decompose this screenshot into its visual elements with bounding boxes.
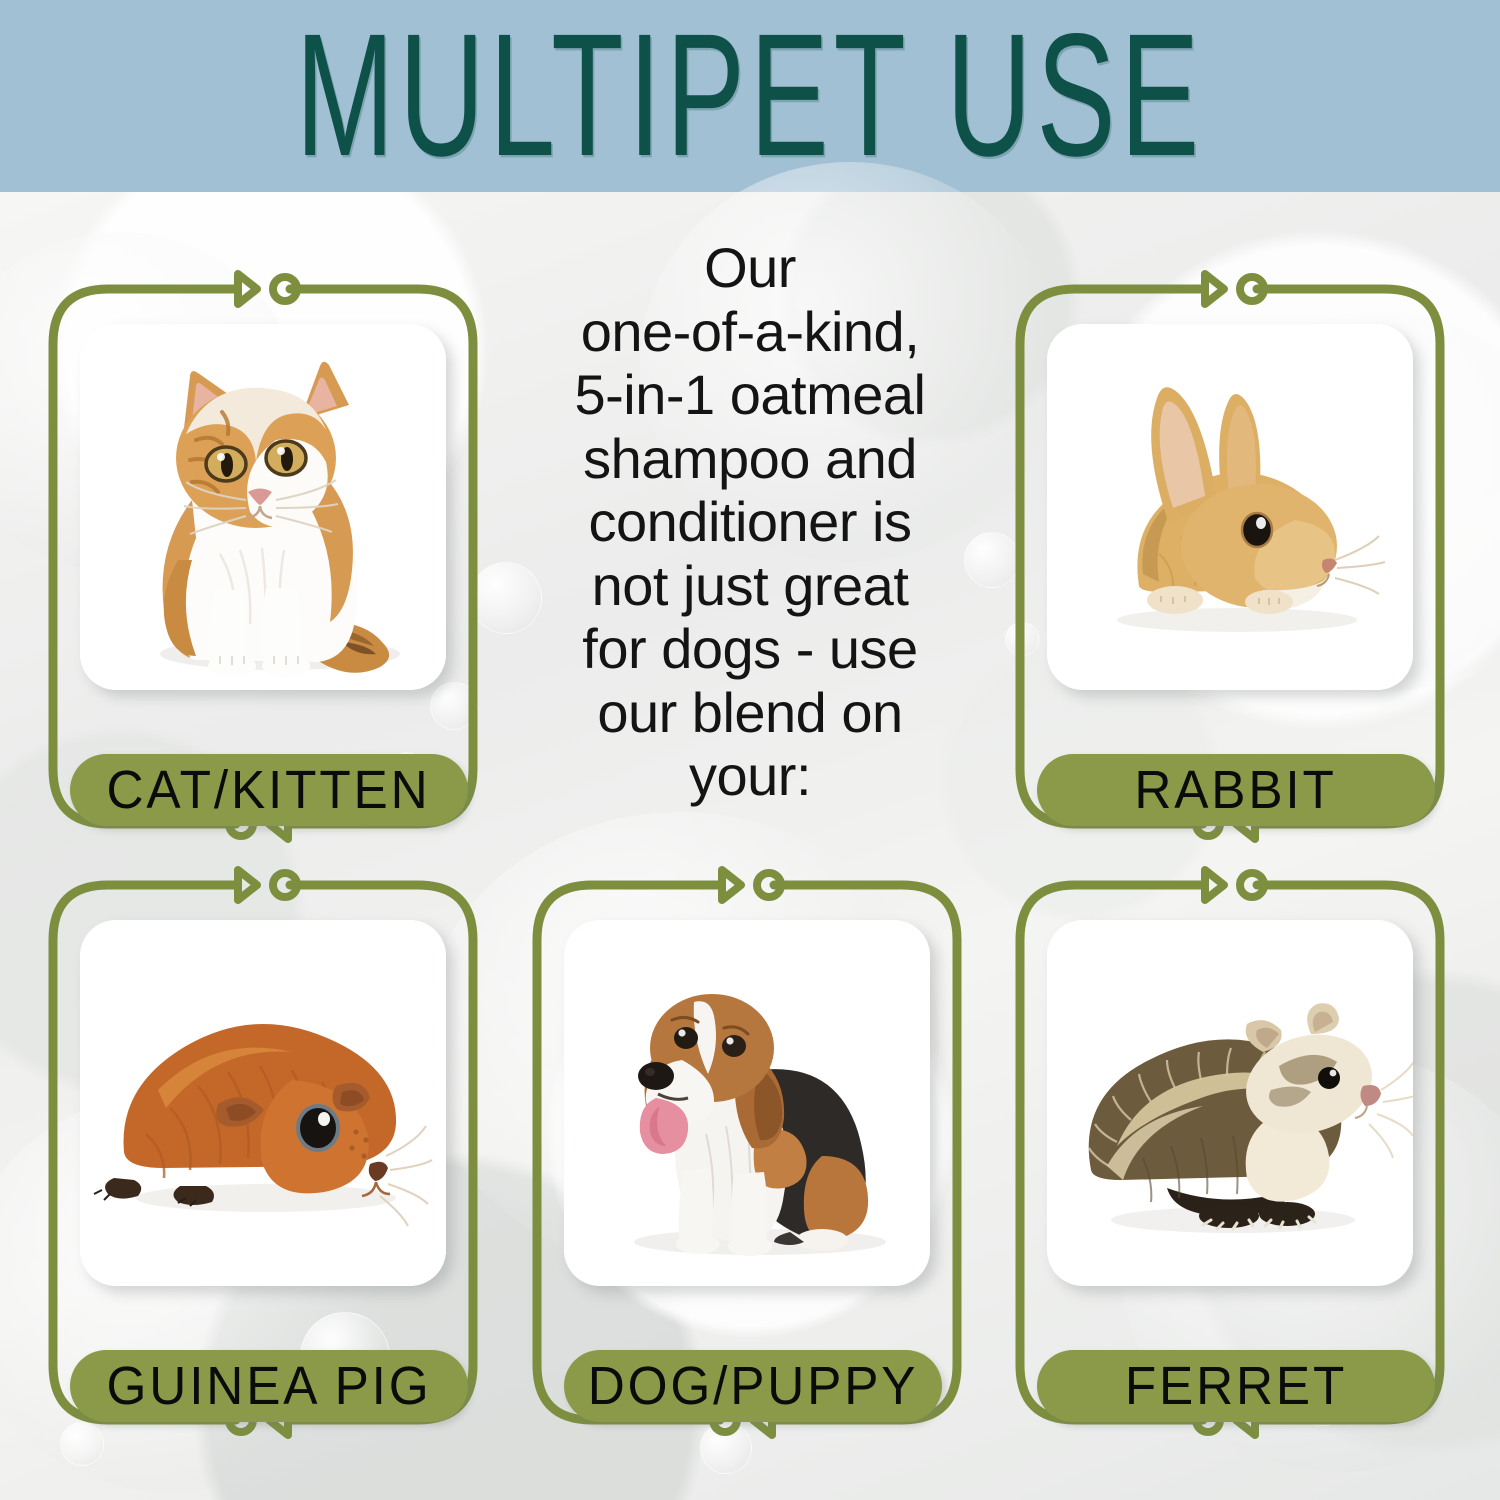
guinea-pig-photo-tile: [80, 920, 446, 1286]
infographic-root: MULTIPET USE: [0, 0, 1500, 1500]
card-label-guinea-pig: GUINEA PIG: [70, 1350, 468, 1422]
card-label-text: FERRET: [1125, 1355, 1347, 1417]
frame-dot-top: [1240, 873, 1264, 897]
rabbit-photo-tile: [1047, 324, 1413, 690]
promo-line: our blend on: [500, 681, 1000, 745]
frame-arrow-top: [722, 870, 741, 900]
guinea-pig-icon: [80, 920, 446, 1286]
header-band: MULTIPET USE: [0, 0, 1500, 192]
card-label-text: DOG/PUPPY: [588, 1355, 919, 1417]
card-label-cat: CAT/KITTEN: [70, 754, 468, 826]
frame-arrow-top: [1205, 870, 1224, 900]
pet-card-dog[interactable]: DOG/PUPPY: [532, 880, 962, 1425]
card-label-text: GUINEA PIG: [107, 1355, 432, 1417]
promo-line: one-of-a-kind,: [500, 300, 1000, 364]
dog-icon: [564, 920, 930, 1286]
frame-arrow-top: [238, 274, 257, 304]
promo-line: 5-in-1 oatmeal: [500, 363, 1000, 427]
pet-card-cat[interactable]: CAT/KITTEN: [48, 284, 478, 829]
promo-line: Our: [500, 236, 1000, 300]
cat-photo-tile: [80, 324, 446, 690]
pet-card-guinea-pig[interactable]: GUINEA PIG: [48, 880, 478, 1425]
frame-dot-top: [757, 873, 781, 897]
frame-dot-top: [273, 873, 297, 897]
ferret-photo-tile: [1047, 920, 1413, 1286]
card-label-text: RABBIT: [1135, 759, 1337, 821]
ferret-icon: [1047, 920, 1413, 1286]
pet-card-ferret[interactable]: FERRET: [1015, 880, 1445, 1425]
promo-paragraph: Our one-of-a-kind, 5-in-1 oatmeal shampo…: [500, 236, 1000, 808]
card-label-dog: DOG/PUPPY: [564, 1350, 942, 1422]
promo-line: shampoo and: [500, 427, 1000, 491]
cat-icon: [80, 324, 446, 690]
dog-photo-tile: [564, 920, 930, 1286]
frame-arrow-top: [238, 870, 257, 900]
page-title: MULTIPET USE: [296, 9, 1204, 184]
card-label-rabbit: RABBIT: [1037, 754, 1435, 826]
promo-line: for dogs - use: [500, 617, 1000, 681]
card-label-text: CAT/KITTEN: [107, 759, 431, 821]
promo-line: your:: [500, 744, 1000, 808]
frame-dot-top: [1240, 277, 1264, 301]
frame-dot-top: [273, 277, 297, 301]
card-label-ferret: FERRET: [1037, 1350, 1435, 1422]
frame-arrow-top: [1205, 274, 1224, 304]
promo-line: not just great: [500, 554, 1000, 618]
rabbit-icon: [1047, 324, 1413, 690]
promo-line: conditioner is: [500, 490, 1000, 554]
pet-card-rabbit[interactable]: RABBIT: [1015, 284, 1445, 829]
